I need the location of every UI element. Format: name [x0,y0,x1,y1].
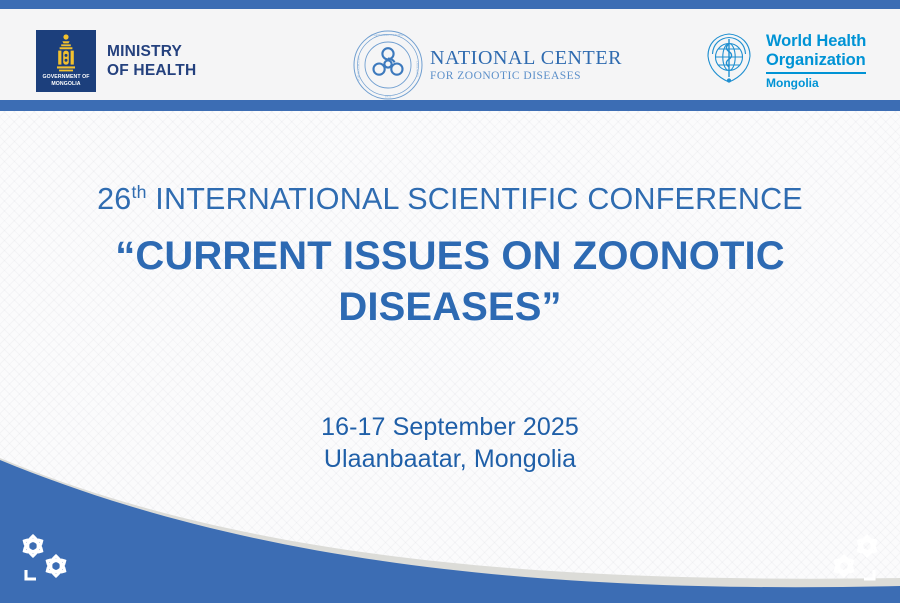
conference-number: 26 [97,182,131,216]
national-center-name-line1: NATIONAL CENTER [430,47,622,69]
who-name-block: World Health Organization Mongolia [766,30,866,90]
svg-text:FOR ZOONOTIC: FOR ZOONOTIC [357,56,361,82]
conference-ordinal: th [131,182,146,202]
emblem-caption-line2: MONGOLIA [36,81,96,88]
mongolia-state-emblem: GOVERNMENT OF MONGOLIA [36,30,96,92]
title-block: 26th INTERNATIONAL SCIENTIFIC CONFERENCE… [0,179,900,333]
header-logo-band: GOVERNMENT OF MONGOLIA MINISTRY OF HEALT… [0,9,900,100]
conference-label: INTERNATIONAL SCIENTIFIC CONFERENCE [147,182,803,216]
svg-text:NATIONAL CENTER: NATIONAL CENTER [372,33,404,37]
conference-subtitle: 26th INTERNATIONAL SCIENTIFIC CONFERENCE [0,179,900,219]
ministry-name-line2: OF HEALTH [107,61,196,80]
who-name-line2: Organization [766,51,866,70]
page-title: “CURRENT ISSUES ON ZOONOTIC DISEASES” [0,231,900,333]
who-un-laurel-emblem-icon [700,30,758,88]
biohazard-seal-icon: NATIONAL CENTER 1951 FOR ZOONOTIC DISEAS… [352,29,424,101]
national-center-name: NATIONAL CENTER FOR ZOONOTIC DISEASES [430,47,622,84]
top-accent-bar [0,0,900,9]
conference-title-slide: GOVERNMENT OF MONGOLIA MINISTRY OF HEALT… [0,0,900,603]
svg-text:DISEASES: DISEASES [416,61,420,77]
mongolia-soyombo-emblem-icon [49,33,83,73]
mongolia-emblem-caption: GOVERNMENT OF MONGOLIA [36,74,96,88]
mongolian-ulzii-knot-icon [14,528,78,586]
header-divider-bar [0,100,900,111]
who-logo: World Health Organization Mongolia [700,30,866,90]
who-underline-rule [766,72,866,74]
mongolian-ulzii-knot-icon [822,528,886,586]
national-center-name-line2: FOR ZOONOTIC DISEASES [430,69,622,84]
national-center-logo: NATIONAL CENTER 1951 FOR ZOONOTIC DISEAS… [352,29,622,101]
event-dates: 16-17 September 2025 [0,411,900,443]
footer-wave [0,458,900,603]
who-name-line1: World Health [766,32,866,51]
emblem-caption-line1: GOVERNMENT OF [36,74,96,81]
ministry-of-health-logo: GOVERNMENT OF MONGOLIA MINISTRY OF HEALT… [36,30,196,92]
svg-text:1951: 1951 [385,95,392,99]
ministry-of-health-name: MINISTRY OF HEALTH [107,42,196,80]
ministry-name-line1: MINISTRY [107,42,196,61]
who-country-label: Mongolia [766,76,866,90]
